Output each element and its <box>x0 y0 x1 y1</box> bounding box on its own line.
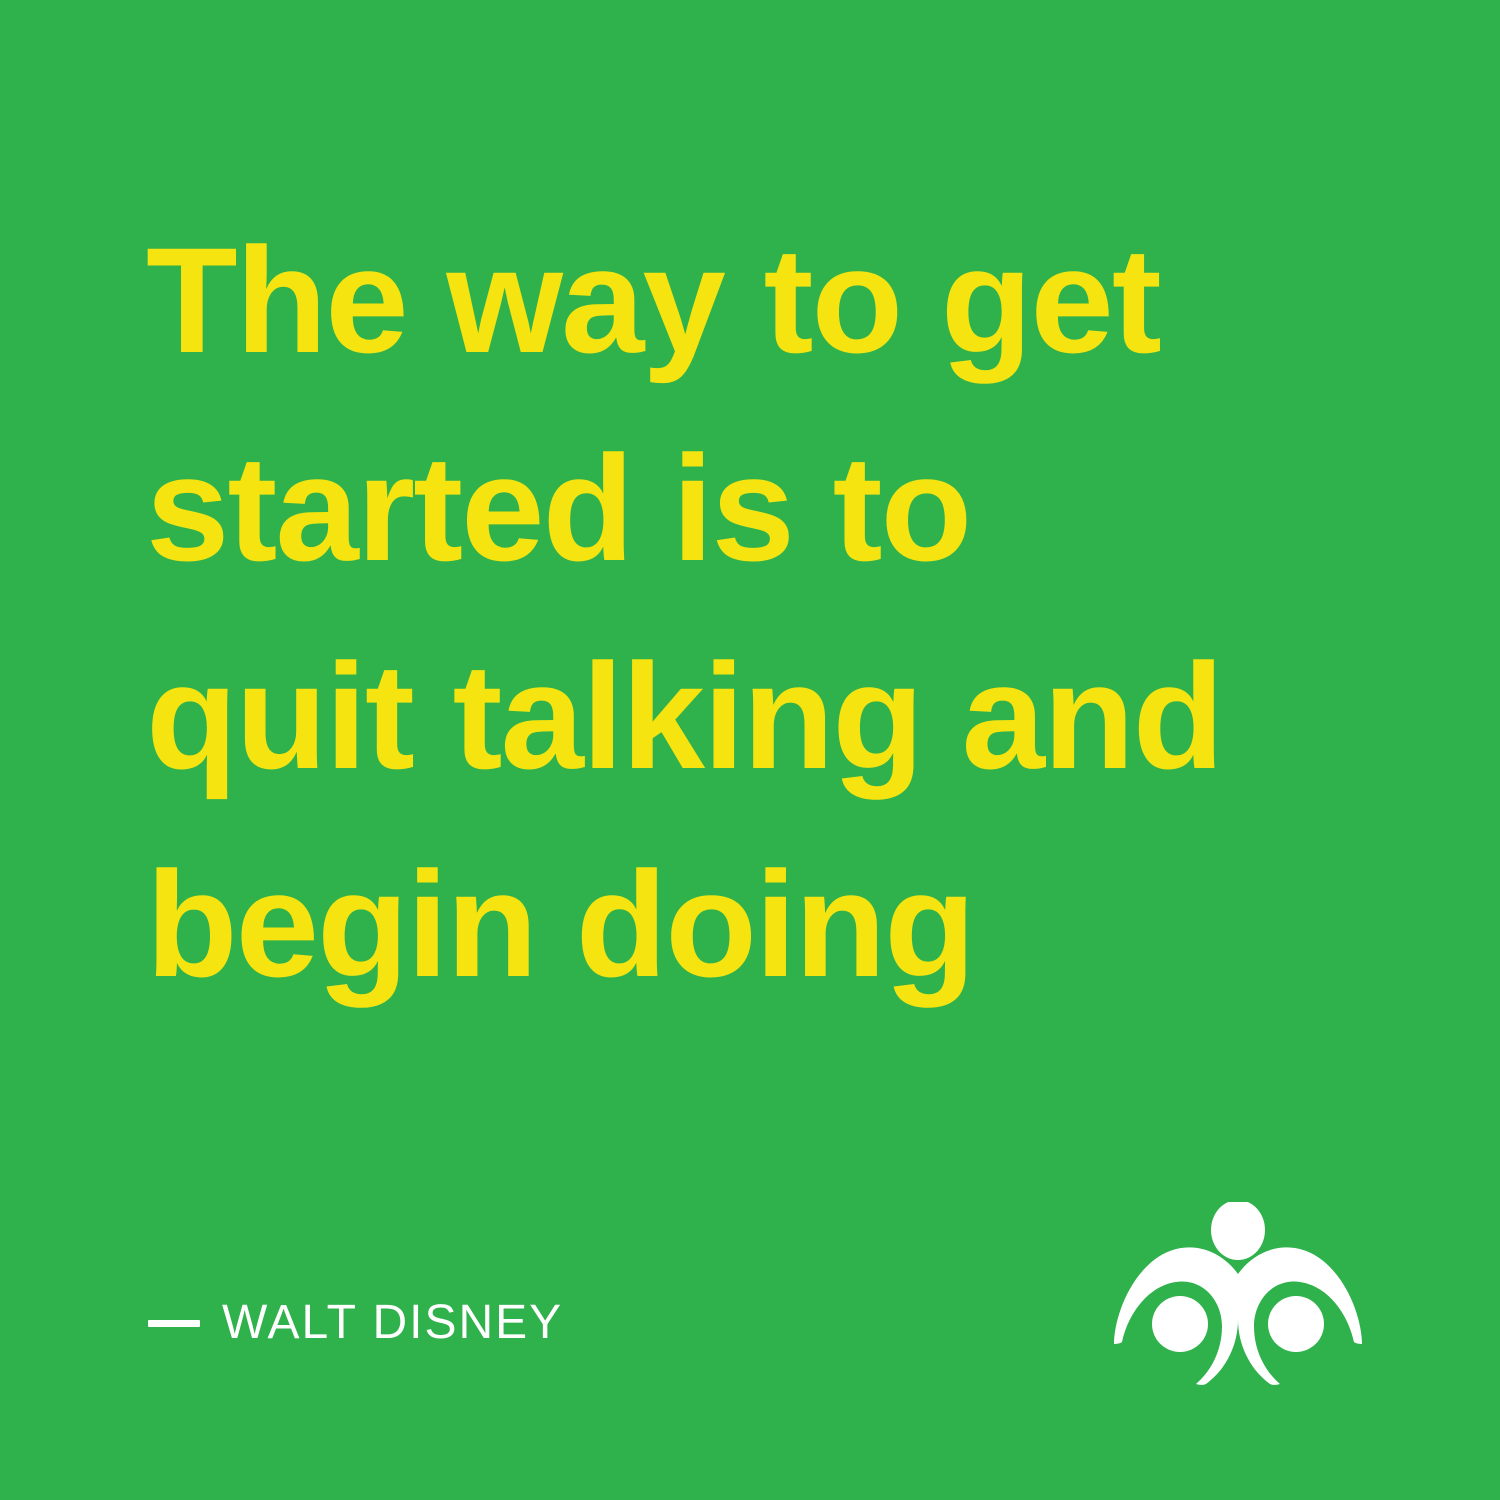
quote-card: The way to get started is to quit talkin… <box>0 0 1500 1500</box>
brand-logo <box>1110 1202 1366 1402</box>
em-dash-icon <box>148 1320 200 1327</box>
quote-line-2: started is to <box>146 404 1326 612</box>
quote-line-1: The way to get <box>146 196 1326 404</box>
quote-attribution: WALT DISNEY <box>148 1297 563 1349</box>
quote-text-block: The way to get started is to quit talkin… <box>146 196 1326 1028</box>
attribution-author-name: WALT DISNEY <box>222 1297 563 1349</box>
quote-line-3: quit talking and <box>146 612 1326 820</box>
quote-line-4: begin doing <box>146 820 1326 1028</box>
three-people-bird-icon <box>1110 1202 1366 1402</box>
